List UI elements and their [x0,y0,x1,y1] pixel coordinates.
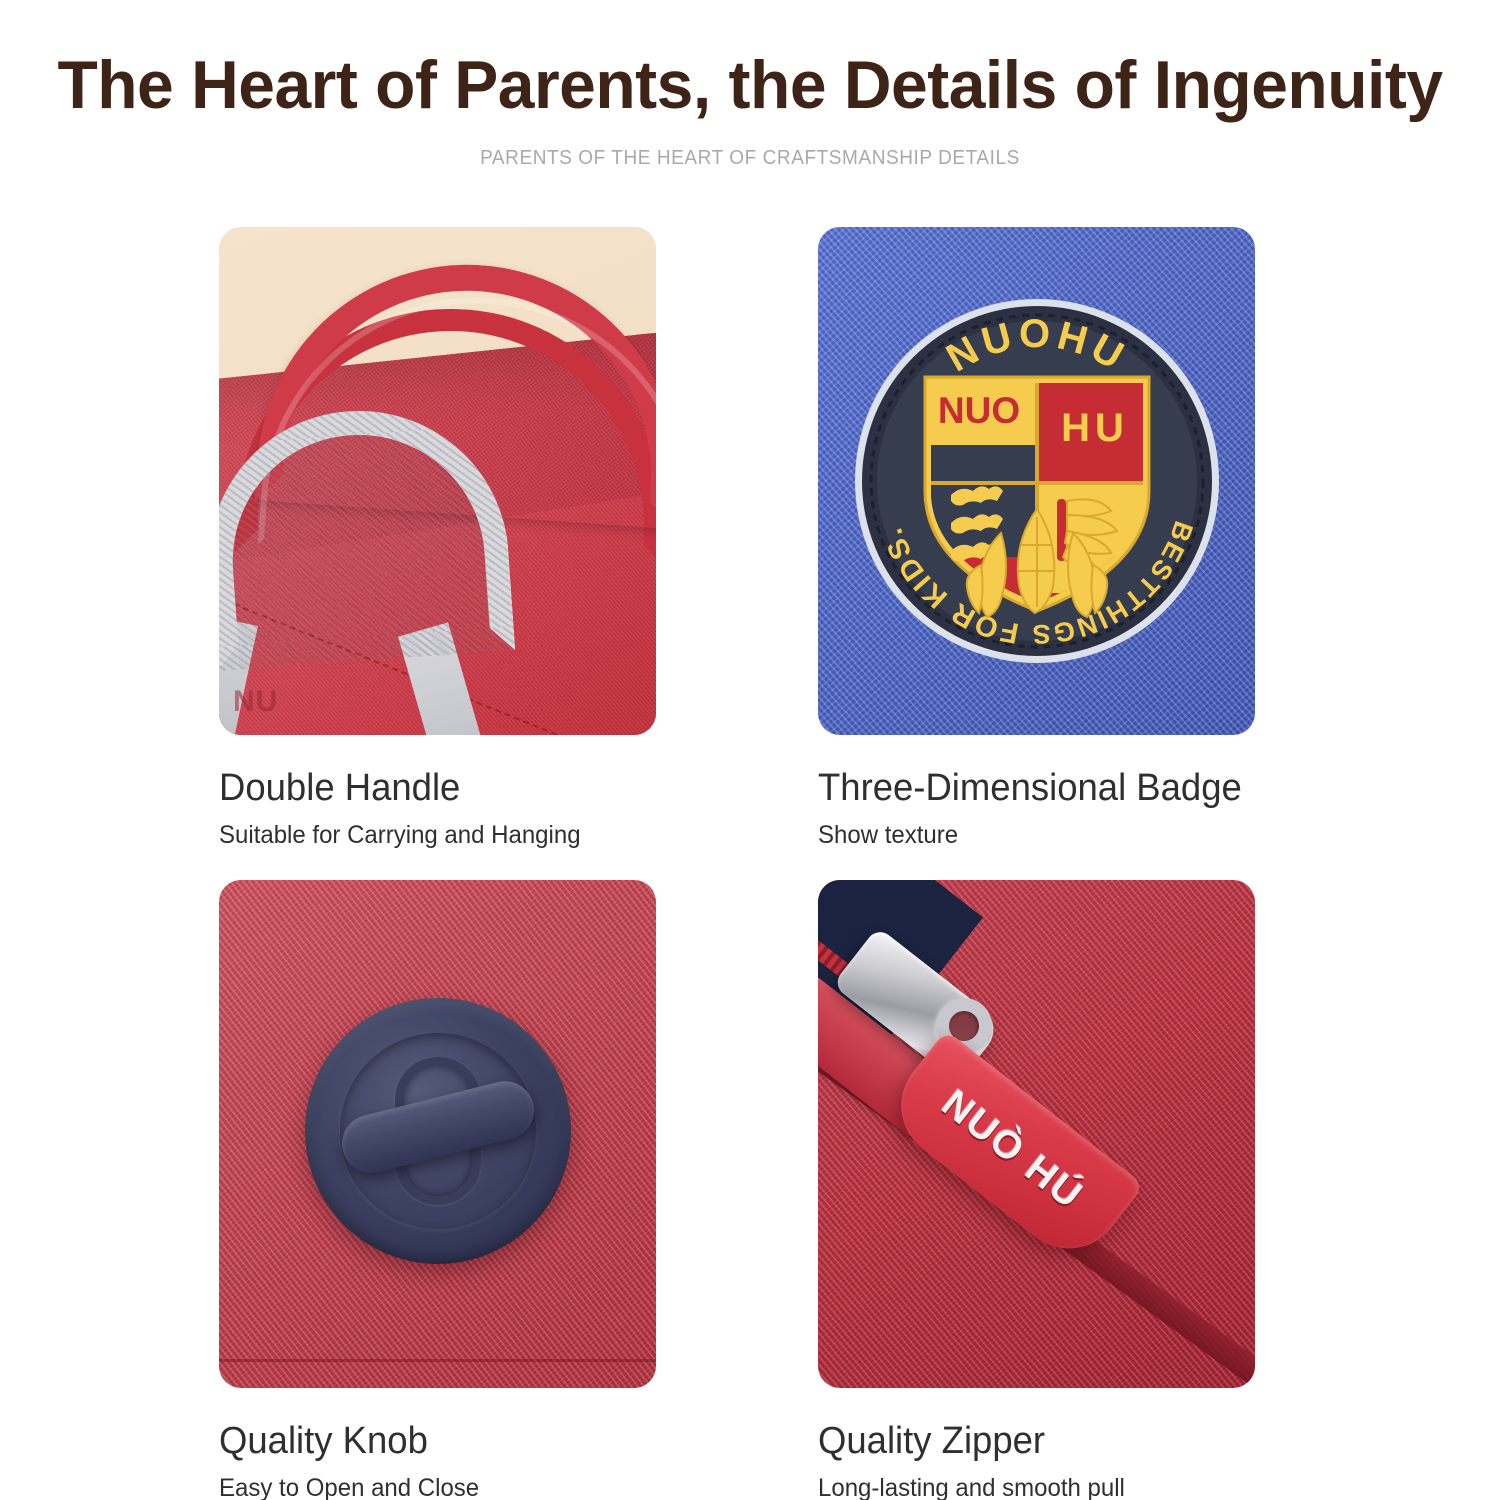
feature-photo-zipper: NUÒ HÚ [818,880,1255,1388]
feature-subtitle-double-handle: Suitable for Carrying and Hanging [219,823,639,848]
feature-card-double-handle: NU Double Handle Suitable for Carrying a… [219,227,656,848]
crest-badge: NUOHU BESTTHINGS FOR KIDS. [851,295,1223,667]
brand-emboss: NU [233,685,278,719]
crest-text-right: HU [1061,406,1129,450]
feature-grid: NU Double Handle Suitable for Carrying a… [219,227,1265,1497]
feature-photo-double-handle: NU [219,227,656,735]
crest-badge-icon: NUOHU BESTTHINGS FOR KIDS. [851,295,1223,667]
product-detail-page: The Heart of Parents, the Details of Ing… [0,0,1500,1500]
fabric-seam [219,1359,656,1362]
feature-photo-knob [219,880,656,1388]
feature-title-badge: Three-Dimensional Badge [818,769,1238,807]
feature-card-quality-zipper: NUÒ HÚ Quality Zipper Long-lasting and s… [818,880,1255,1500]
feature-title-zipper: Quality Zipper [818,1422,1238,1460]
page-title: The Heart of Parents, the Details of Ing… [23,50,1478,121]
feature-title-double-handle: Double Handle [219,769,639,807]
page-header: The Heart of Parents, the Details of Ing… [0,50,1500,170]
feature-photo-badge: NUOHU BESTTHINGS FOR KIDS. [818,227,1255,735]
crest-text-left: NUO [937,390,1019,431]
zipper-pull-brand-text: NUÒ HÚ [933,1082,1091,1219]
feature-subtitle-knob: Easy to Open and Close [219,1476,639,1500]
feature-subtitle-badge: Show texture [818,823,1238,848]
turn-lock-knob [305,998,571,1264]
feature-card-quality-knob: Quality Knob Easy to Open and Close [219,880,656,1500]
feature-card-three-dimensional-badge: NUOHU BESTTHINGS FOR KIDS. [818,227,1255,848]
page-subtitle: PARENTS OF THE HEART OF CRAFTSMANSHIP DE… [38,147,1463,170]
feature-title-knob: Quality Knob [219,1422,639,1460]
feature-subtitle-zipper: Long-lasting and smooth pull [818,1476,1238,1500]
zipper-pull-tab: NUÒ HÚ [880,1030,1145,1270]
